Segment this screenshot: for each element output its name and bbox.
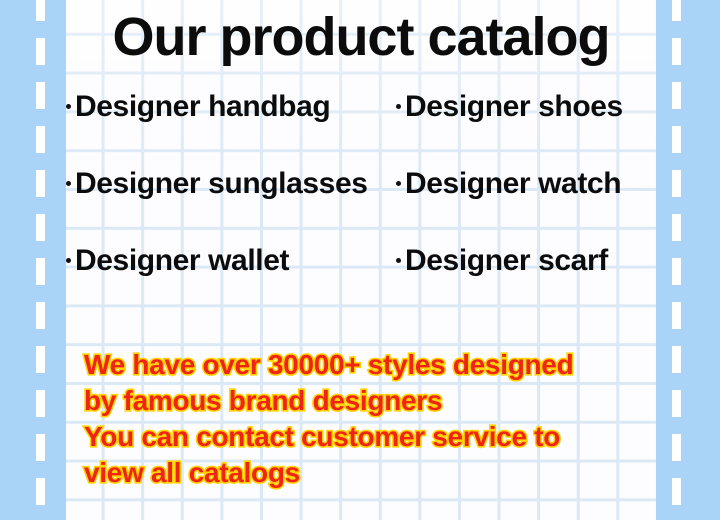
page-title: Our product catalog (66, 4, 656, 70)
bullet-dot-icon (396, 258, 401, 263)
promo-line: We have over 30000+ styles designed (84, 347, 664, 383)
catalog-item-designer-watch: Designer watch (396, 165, 658, 203)
promo-line: by famous brand designers (84, 383, 664, 419)
catalog-item-label: Designer watch (405, 165, 621, 203)
right-dashed-line (672, 0, 681, 520)
product-catalog-poster: Our product catalog Designer handbag Des… (0, 0, 720, 520)
promo-message: We have over 30000+ styles designed by f… (84, 347, 664, 491)
catalog-item-designer-shoes: Designer shoes (396, 88, 658, 126)
bullet-dot-icon (66, 104, 71, 109)
catalog-item-designer-wallet: Designer wallet (66, 242, 396, 280)
bullet-dot-icon (66, 181, 71, 186)
catalog-item-designer-sunglasses: Designer sunglasses (66, 165, 396, 203)
poster-content: Our product catalog Designer handbag Des… (0, 0, 720, 520)
catalog-item-label: Designer sunglasses (75, 165, 368, 203)
catalog-item-grid: Designer handbag Designer shoes Designer… (66, 88, 658, 319)
right-blue-band (656, 0, 720, 520)
catalog-item-label: Designer handbag (75, 88, 330, 126)
catalog-item-designer-scarf: Designer scarf (396, 242, 658, 280)
catalog-item-designer-handbag: Designer handbag (66, 88, 396, 126)
left-blue-band (0, 0, 66, 520)
catalog-item-label: Designer scarf (405, 242, 608, 280)
promo-line: view all catalogs (84, 455, 664, 491)
promo-line: You can contact customer service to (84, 419, 664, 455)
catalog-item-label: Designer wallet (75, 242, 289, 280)
bullet-dot-icon (396, 104, 401, 109)
catalog-item-label: Designer shoes (405, 88, 623, 126)
bullet-dot-icon (396, 181, 401, 186)
left-dashed-line (36, 0, 45, 520)
bullet-dot-icon (66, 258, 71, 263)
